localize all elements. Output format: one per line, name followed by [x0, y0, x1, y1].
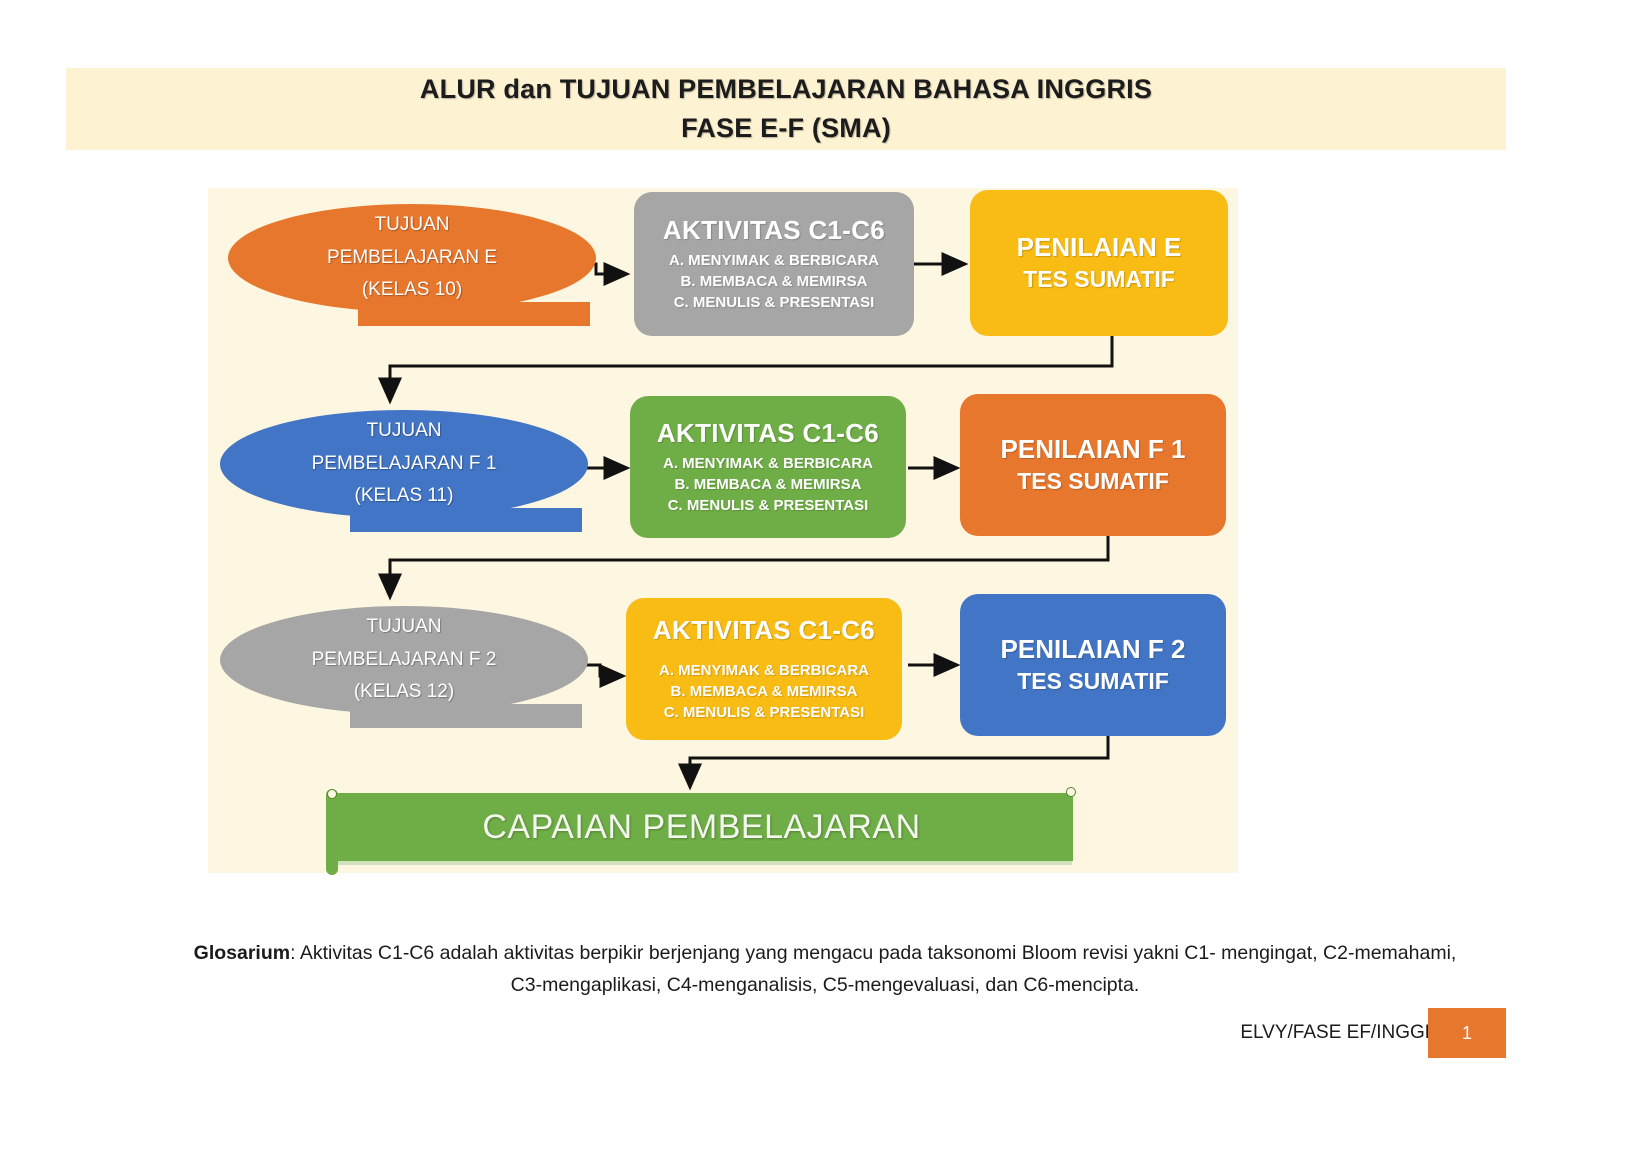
activity-items: A. MENYIMAK & BERBICARA B. MEMBACA & MEM… [659, 660, 869, 724]
activity-title: AKTIVITAS C1-C6 [653, 615, 875, 646]
activity-item-a: A. MENYIMAK & BERBICARA [669, 250, 879, 271]
activity-title: AKTIVITAS C1-C6 [657, 418, 879, 449]
assessment-line-1: PENILAIAN E [1017, 231, 1182, 265]
activity-title: AKTIVITAS C1-C6 [663, 215, 885, 246]
goal-line-3: (KELAS 11) [355, 480, 454, 513]
goal-callout-f1[interactable]: TUJUAN PEMBELAJARAN F 1 (KELAS 11) [220, 410, 588, 532]
goal-line-1: TUJUAN [367, 611, 442, 644]
activity-card-e[interactable]: AKTIVITAS C1-C6 A. MENYIMAK & BERBICARA … [634, 192, 914, 336]
goal-line-2: PEMBELAJARAN E [327, 242, 497, 275]
glossary-text-1: : Aktivitas C1-C6 adalah aktivitas berpi… [290, 942, 1456, 964]
activity-item-a: A. MENYIMAK & BERBICARA [663, 453, 873, 474]
assessment-line-1: PENILAIAN F 1 [1001, 433, 1186, 467]
activity-item-c: C. MENULIS & PRESENTASI [659, 702, 869, 723]
page-title-line-2: FASE E-F (SMA) [681, 109, 891, 148]
activity-items: A. MENYIMAK & BERBICARA B. MEMBACA & MEM… [663, 453, 873, 517]
activity-item-c: C. MENULIS & PRESENTASI [663, 495, 873, 516]
goal-line-3: (KELAS 12) [354, 676, 454, 709]
ribbon-curl-right-icon [1066, 787, 1071, 797]
assessment-card-f2[interactable]: PENILAIAN F 2 TES SUMATIF [960, 594, 1226, 736]
flow-diagram: TUJUAN PEMBELAJARAN E (KELAS 10) AKTIVIT… [208, 188, 1238, 873]
goal-line-1: TUJUAN [367, 415, 442, 448]
activity-item-c: C. MENULIS & PRESENTASI [669, 292, 879, 313]
assessment-line-2: TES SUMATIF [1017, 667, 1169, 697]
assessment-line-2: TES SUMATIF [1023, 265, 1175, 295]
assessment-line-1: PENILAIAN F 2 [1001, 633, 1186, 667]
activity-item-b: B. MEMBACA & MEMIRSA [659, 681, 869, 702]
activity-item-b: B. MEMBACA & MEMIRSA [669, 271, 879, 292]
outcome-ribbon-label: CAPAIAN PEMBELAJARAN [330, 793, 1073, 861]
ribbon-curl-left-icon [326, 789, 338, 875]
activity-items: A. MENYIMAK & BERBICARA B. MEMBACA & MEM… [669, 250, 879, 314]
activity-item-b: B. MEMBACA & MEMIRSA [663, 474, 873, 495]
assessment-card-f1[interactable]: PENILAIAN F 1 TES SUMATIF [960, 394, 1226, 536]
outcome-ribbon[interactable]: CAPAIAN PEMBELAJARAN [318, 793, 1073, 865]
glossary-label: Glosarium [194, 942, 290, 964]
goal-callout-f1-body: TUJUAN PEMBELAJARAN F 1 (KELAS 11) [220, 410, 588, 518]
assessment-line-2: TES SUMATIF [1017, 467, 1169, 497]
goal-line-1: TUJUAN [375, 209, 450, 242]
assessment-card-e[interactable]: PENILAIAN E TES SUMATIF [970, 190, 1228, 336]
glossary-line-1: Glosarium: Aktivitas C1-C6 adalah aktivi… [60, 938, 1590, 970]
goal-callout-e[interactable]: TUJUAN PEMBELAJARAN E (KELAS 10) [228, 204, 596, 326]
activity-item-a: A. MENYIMAK & BERBICARA [659, 660, 869, 681]
goal-line-2: PEMBELAJARAN F 2 [312, 644, 497, 677]
page-title-line-1: ALUR dan TUJUAN PEMBELAJARAN BAHASA INGG… [420, 70, 1152, 109]
goal-line-2: PEMBELAJARAN F 1 [312, 448, 497, 481]
goal-callout-e-body: TUJUAN PEMBELAJARAN E (KELAS 10) [228, 204, 596, 312]
goal-line-3: (KELAS 10) [362, 274, 462, 307]
glossary-line-2: C3-mengaplikasi, C4-menganalisis, C5-men… [60, 970, 1590, 1002]
goal-callout-f2[interactable]: TUJUAN PEMBELAJARAN F 2 (KELAS 12) [220, 606, 588, 728]
activity-card-f2[interactable]: AKTIVITAS C1-C6 A. MENYIMAK & BERBICARA … [626, 598, 902, 740]
glossary: Glosarium: Aktivitas C1-C6 adalah aktivi… [60, 938, 1590, 1001]
goal-callout-f2-body: TUJUAN PEMBELAJARAN F 2 (KELAS 12) [220, 606, 588, 714]
page-title-banner: ALUR dan TUJUAN PEMBELAJARAN BAHASA INGG… [66, 68, 1506, 150]
activity-card-f1[interactable]: AKTIVITAS C1-C6 A. MENYIMAK & BERBICARA … [630, 396, 906, 538]
ribbon-shadow [332, 861, 1072, 865]
page-number-badge: 1 [1428, 1008, 1506, 1058]
